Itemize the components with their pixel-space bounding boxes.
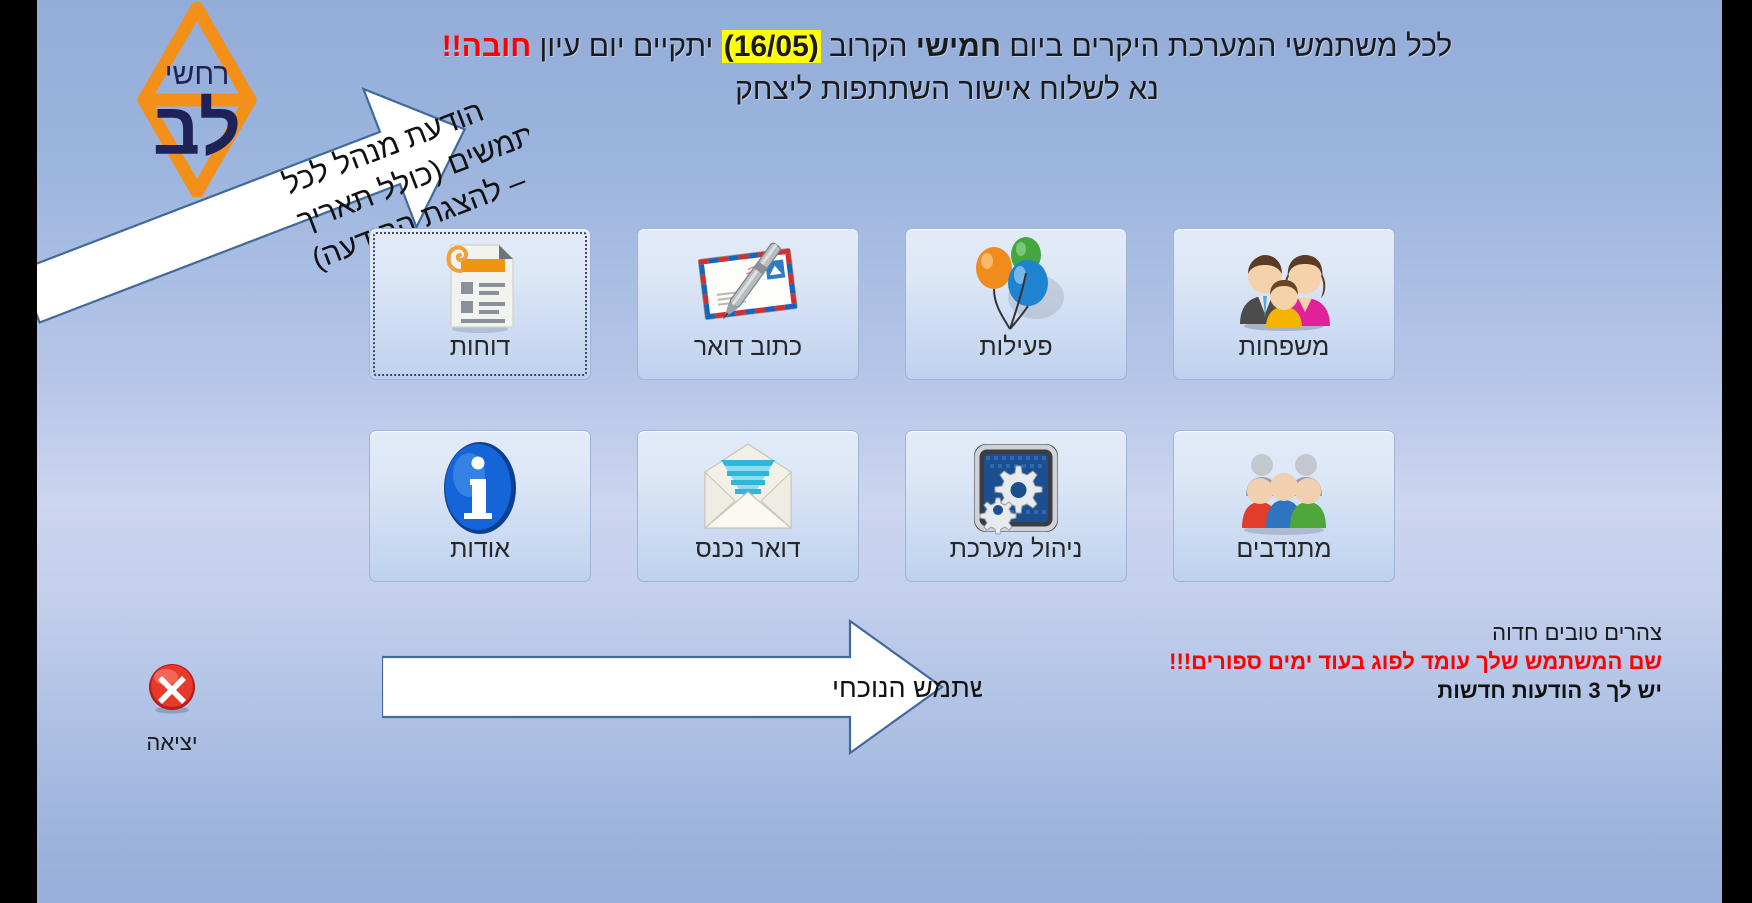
user-status-block: צהרים טובים חדוה שם המשתמש שלך עומד לפוג… — [1169, 618, 1662, 705]
logo-bottom-text: לב — [153, 87, 241, 170]
banner-bold-day: חמישי — [916, 30, 1001, 63]
callout-arrow-shape — [382, 621, 942, 753]
tile-label: דוחות — [450, 335, 511, 360]
admin-message-line-2: נא לשלוח אישור השתתפות ליצחק — [292, 69, 1602, 112]
volunteers-icon — [1232, 437, 1336, 539]
tile-label: ניהול מערכת — [950, 537, 1083, 562]
tile-label: פעילות — [979, 335, 1052, 360]
balloons-icon — [964, 235, 1068, 337]
info-icon — [434, 437, 526, 539]
envelope-pen-icon — [692, 235, 804, 337]
user-messages-annotation: הודעות חשובות למשתמש הנוכחי — [382, 613, 982, 763]
tile-label: מתנדבים — [1236, 537, 1331, 562]
banner-text-3: יתקיים יום עיון — [531, 30, 721, 63]
exit-label: יציאה — [107, 730, 237, 756]
admin-message-line-1: לכל משתמשי המערכת היקרים ביום חמישי הקרו… — [292, 26, 1602, 69]
callout-bottom-text: הודעות חשובות למשתמש הנוכחי — [832, 673, 982, 703]
app-logo: רחשי לב — [102, 2, 292, 197]
callout-line-2: המשתמשים (כולל תאריך — [293, 96, 529, 239]
main-menu-grid: משפחות — [369, 228, 1395, 582]
tile-label: כתוב דואר — [694, 335, 802, 360]
banner-text-1: לכל משתמשי המערכת היקרים ביום — [1001, 30, 1452, 63]
gears-icon — [968, 437, 1064, 539]
banner-mandatory-label: חובה!! — [442, 30, 532, 63]
greeting-text: צהרים טובים חדוה — [1169, 618, 1662, 647]
red-x-circle-icon — [107, 660, 237, 721]
tile-label: אודות — [450, 537, 510, 562]
tile-activities[interactable]: פעילות — [905, 228, 1127, 380]
tile-system-admin[interactable]: ניהול מערכת — [905, 430, 1127, 582]
banner-highlight-date: (16/05) — [722, 30, 821, 63]
tile-compose-mail[interactable]: כתוב דואר — [637, 228, 859, 380]
tile-volunteers[interactable]: מתנדבים — [1173, 430, 1395, 582]
application-window: רחשי לב לכל משתמשי המערכת היקרים ביום חמ… — [37, 0, 1722, 903]
new-messages-count: יש לך 3 הודעות חדשות — [1169, 676, 1662, 705]
password-expiry-warning: שם המשתמש שלך עומד לפוג בעוד ימים ספורים… — [1169, 647, 1662, 676]
admin-message-banner: לכל משתמשי המערכת היקרים ביום חמישי הקרו… — [292, 26, 1602, 111]
tile-inbox[interactable]: דואר נכנס — [637, 430, 859, 582]
tile-families[interactable]: משפחות — [1173, 228, 1395, 380]
family-icon — [1232, 235, 1336, 337]
inbox-mail-icon — [695, 437, 801, 539]
banner-text-2: הקרוב — [821, 30, 916, 63]
report-icon — [431, 235, 529, 337]
tile-label: דואר נכנס — [695, 537, 800, 562]
tile-reports[interactable]: דוחות — [369, 228, 591, 380]
screenshot-root: רחשי לב לכל משתמשי המערכת היקרים ביום חמ… — [0, 0, 1752, 903]
tile-label: משפחות — [1239, 335, 1330, 360]
exit-button[interactable]: יציאה — [107, 660, 237, 756]
tile-about[interactable]: אודות — [369, 430, 591, 582]
